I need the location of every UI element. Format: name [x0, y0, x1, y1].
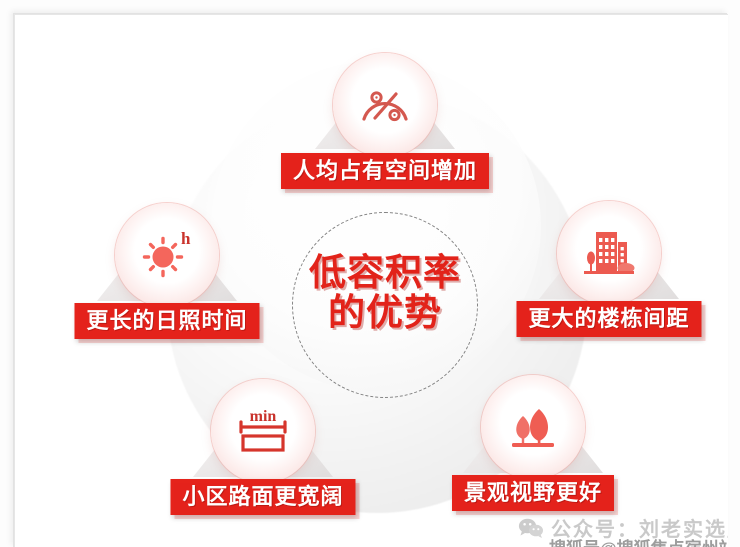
- road-width-unit: min: [250, 408, 277, 425]
- infographic-screen: 低容积率 的优势 人均占有空间增加: [0, 0, 740, 547]
- sohu-watermark-text: 搜狐号@搜狐焦点宿州站: [549, 539, 728, 547]
- center-headline-line1: 低容积率: [309, 252, 461, 293]
- icon-bubble: [333, 53, 437, 157]
- center-headline: 低容积率 的优势: [282, 253, 488, 333]
- icon-bubble: [557, 201, 661, 305]
- icon-bubble: h: [115, 203, 219, 307]
- node-label[interactable]: 小区路面更宽阔: [170, 479, 355, 515]
- node-label[interactable]: 景观视野更好: [452, 475, 614, 511]
- buildings-icon: [578, 224, 640, 282]
- percent-gauge-icon: [355, 77, 415, 133]
- wechat-icon: [518, 517, 544, 539]
- sun-hours-icon: h: [136, 226, 198, 284]
- node-label[interactable]: 更长的日照时间: [74, 303, 259, 339]
- sohu-watermark: 搜狐号@搜狐焦点宿州站: [549, 534, 728, 547]
- road-width-min-icon: min: [231, 403, 295, 459]
- icon-bubble: [481, 375, 585, 479]
- sun-hours-unit: h: [181, 229, 191, 248]
- node-label[interactable]: 人均占有空间增加: [281, 153, 489, 189]
- center-headline-line2: 的优势: [282, 293, 488, 333]
- node-label[interactable]: 更大的楼栋间距: [516, 301, 701, 337]
- icon-bubble: min: [211, 379, 315, 483]
- trees-icon: [503, 399, 563, 455]
- content-frame: 低容积率 的优势 人均占有空间增加: [14, 14, 728, 547]
